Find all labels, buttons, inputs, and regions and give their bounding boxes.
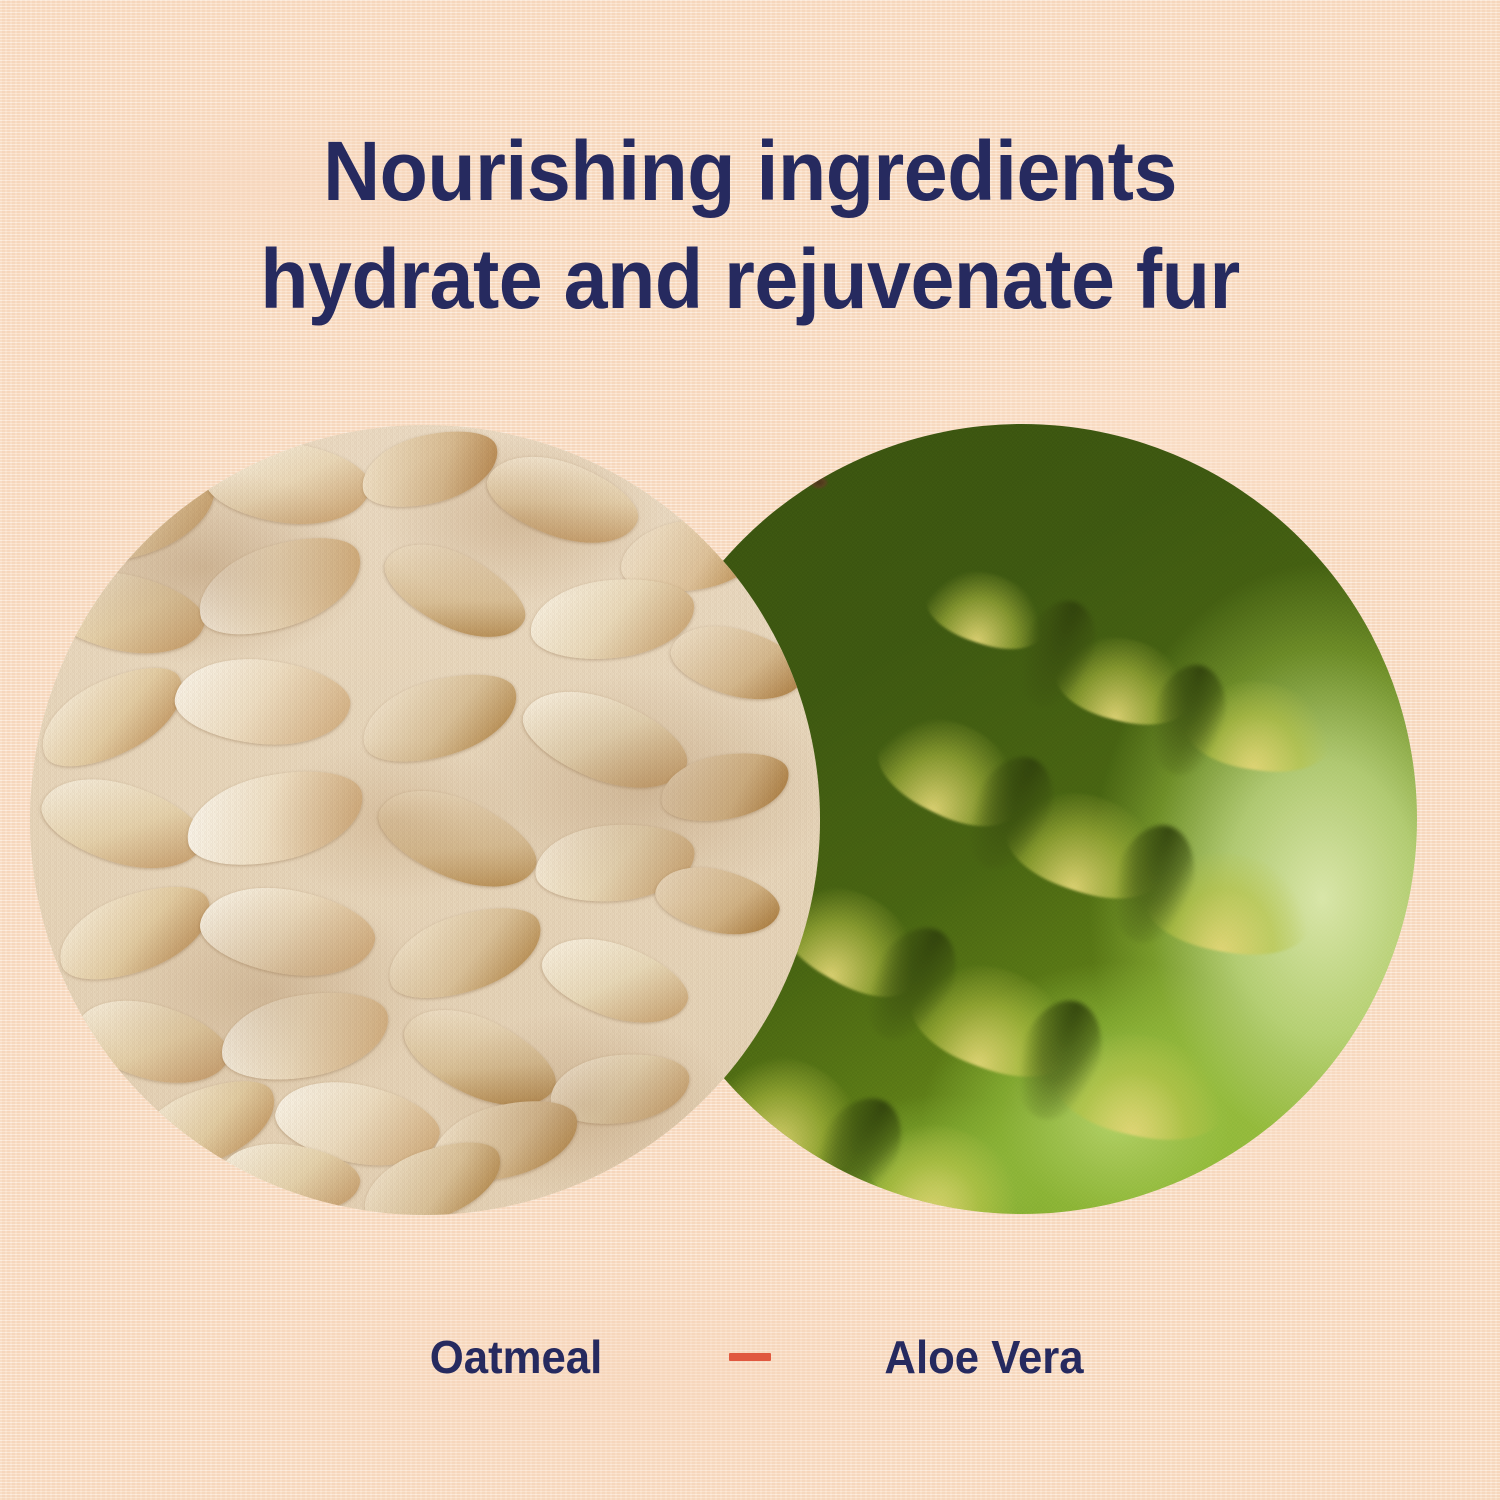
oatmeal-photo <box>30 425 820 1215</box>
aloe-leaf-blemish <box>810 476 828 489</box>
ingredient-caption-row: Oatmeal Aloe Vera <box>0 1330 1500 1384</box>
caption-separator-dash <box>729 1353 771 1361</box>
caption-right-label: Aloe Vera <box>799 1330 1170 1384</box>
ingredient-image-pair <box>0 0 1500 1500</box>
ingredient-feature-banner: Nourishing ingredients hydrate and rejuv… <box>0 0 1500 1500</box>
caption-left-label: Oatmeal <box>331 1330 702 1384</box>
